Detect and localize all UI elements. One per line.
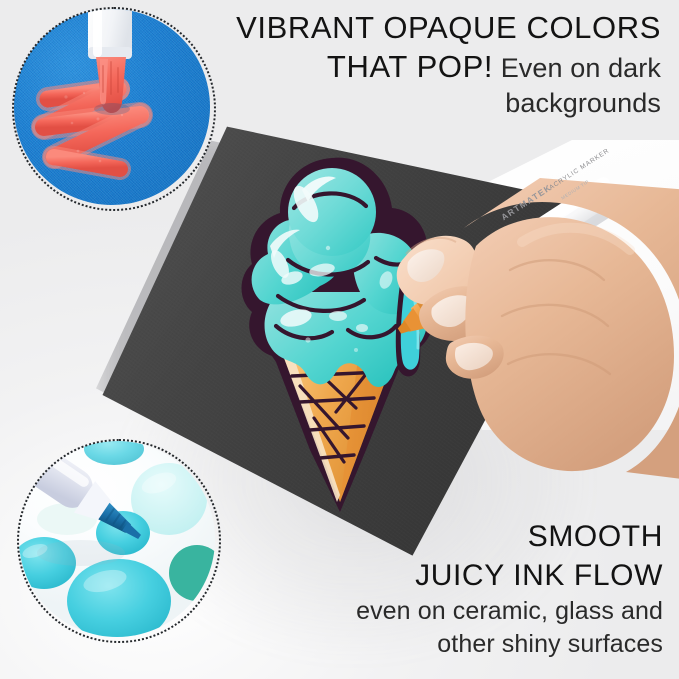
headline-bottom: SMOOTH JUICY INK FLOW even on ceramic, g… bbox=[193, 517, 663, 661]
headline-bottom-line2: JUICY INK FLOW bbox=[193, 556, 663, 595]
headline-top-line2: THAT POP! bbox=[327, 49, 493, 84]
product-feature-image: ARTMATEK ACRYLIC MARKER MEDIUM TIP bbox=[0, 0, 679, 679]
headline-bottom-subline2: other shiny surfaces bbox=[193, 628, 663, 661]
turquoise-dots-scene bbox=[19, 441, 215, 637]
headline-top-subline: backgrounds bbox=[191, 86, 661, 121]
inset-coral-on-blue bbox=[14, 9, 210, 205]
headline-top-line1: VIBRANT OPAQUE COLORS bbox=[191, 8, 661, 47]
headline-bottom-line1: SMOOTH bbox=[193, 517, 663, 556]
inset-dots-on-gloss bbox=[19, 441, 215, 637]
hand-holding-marker: ARTMATEK ACRYLIC MARKER MEDIUM TIP bbox=[390, 150, 679, 480]
headline-top-line2-tail: Even on dark bbox=[493, 53, 661, 83]
headline-top: VIBRANT OPAQUE COLORS THAT POP! Even on … bbox=[191, 8, 661, 121]
headline-bottom-subline1: even on ceramic, glass and bbox=[193, 595, 663, 628]
coral-zigzag bbox=[44, 89, 140, 169]
coral-scribble-scene bbox=[14, 9, 210, 205]
